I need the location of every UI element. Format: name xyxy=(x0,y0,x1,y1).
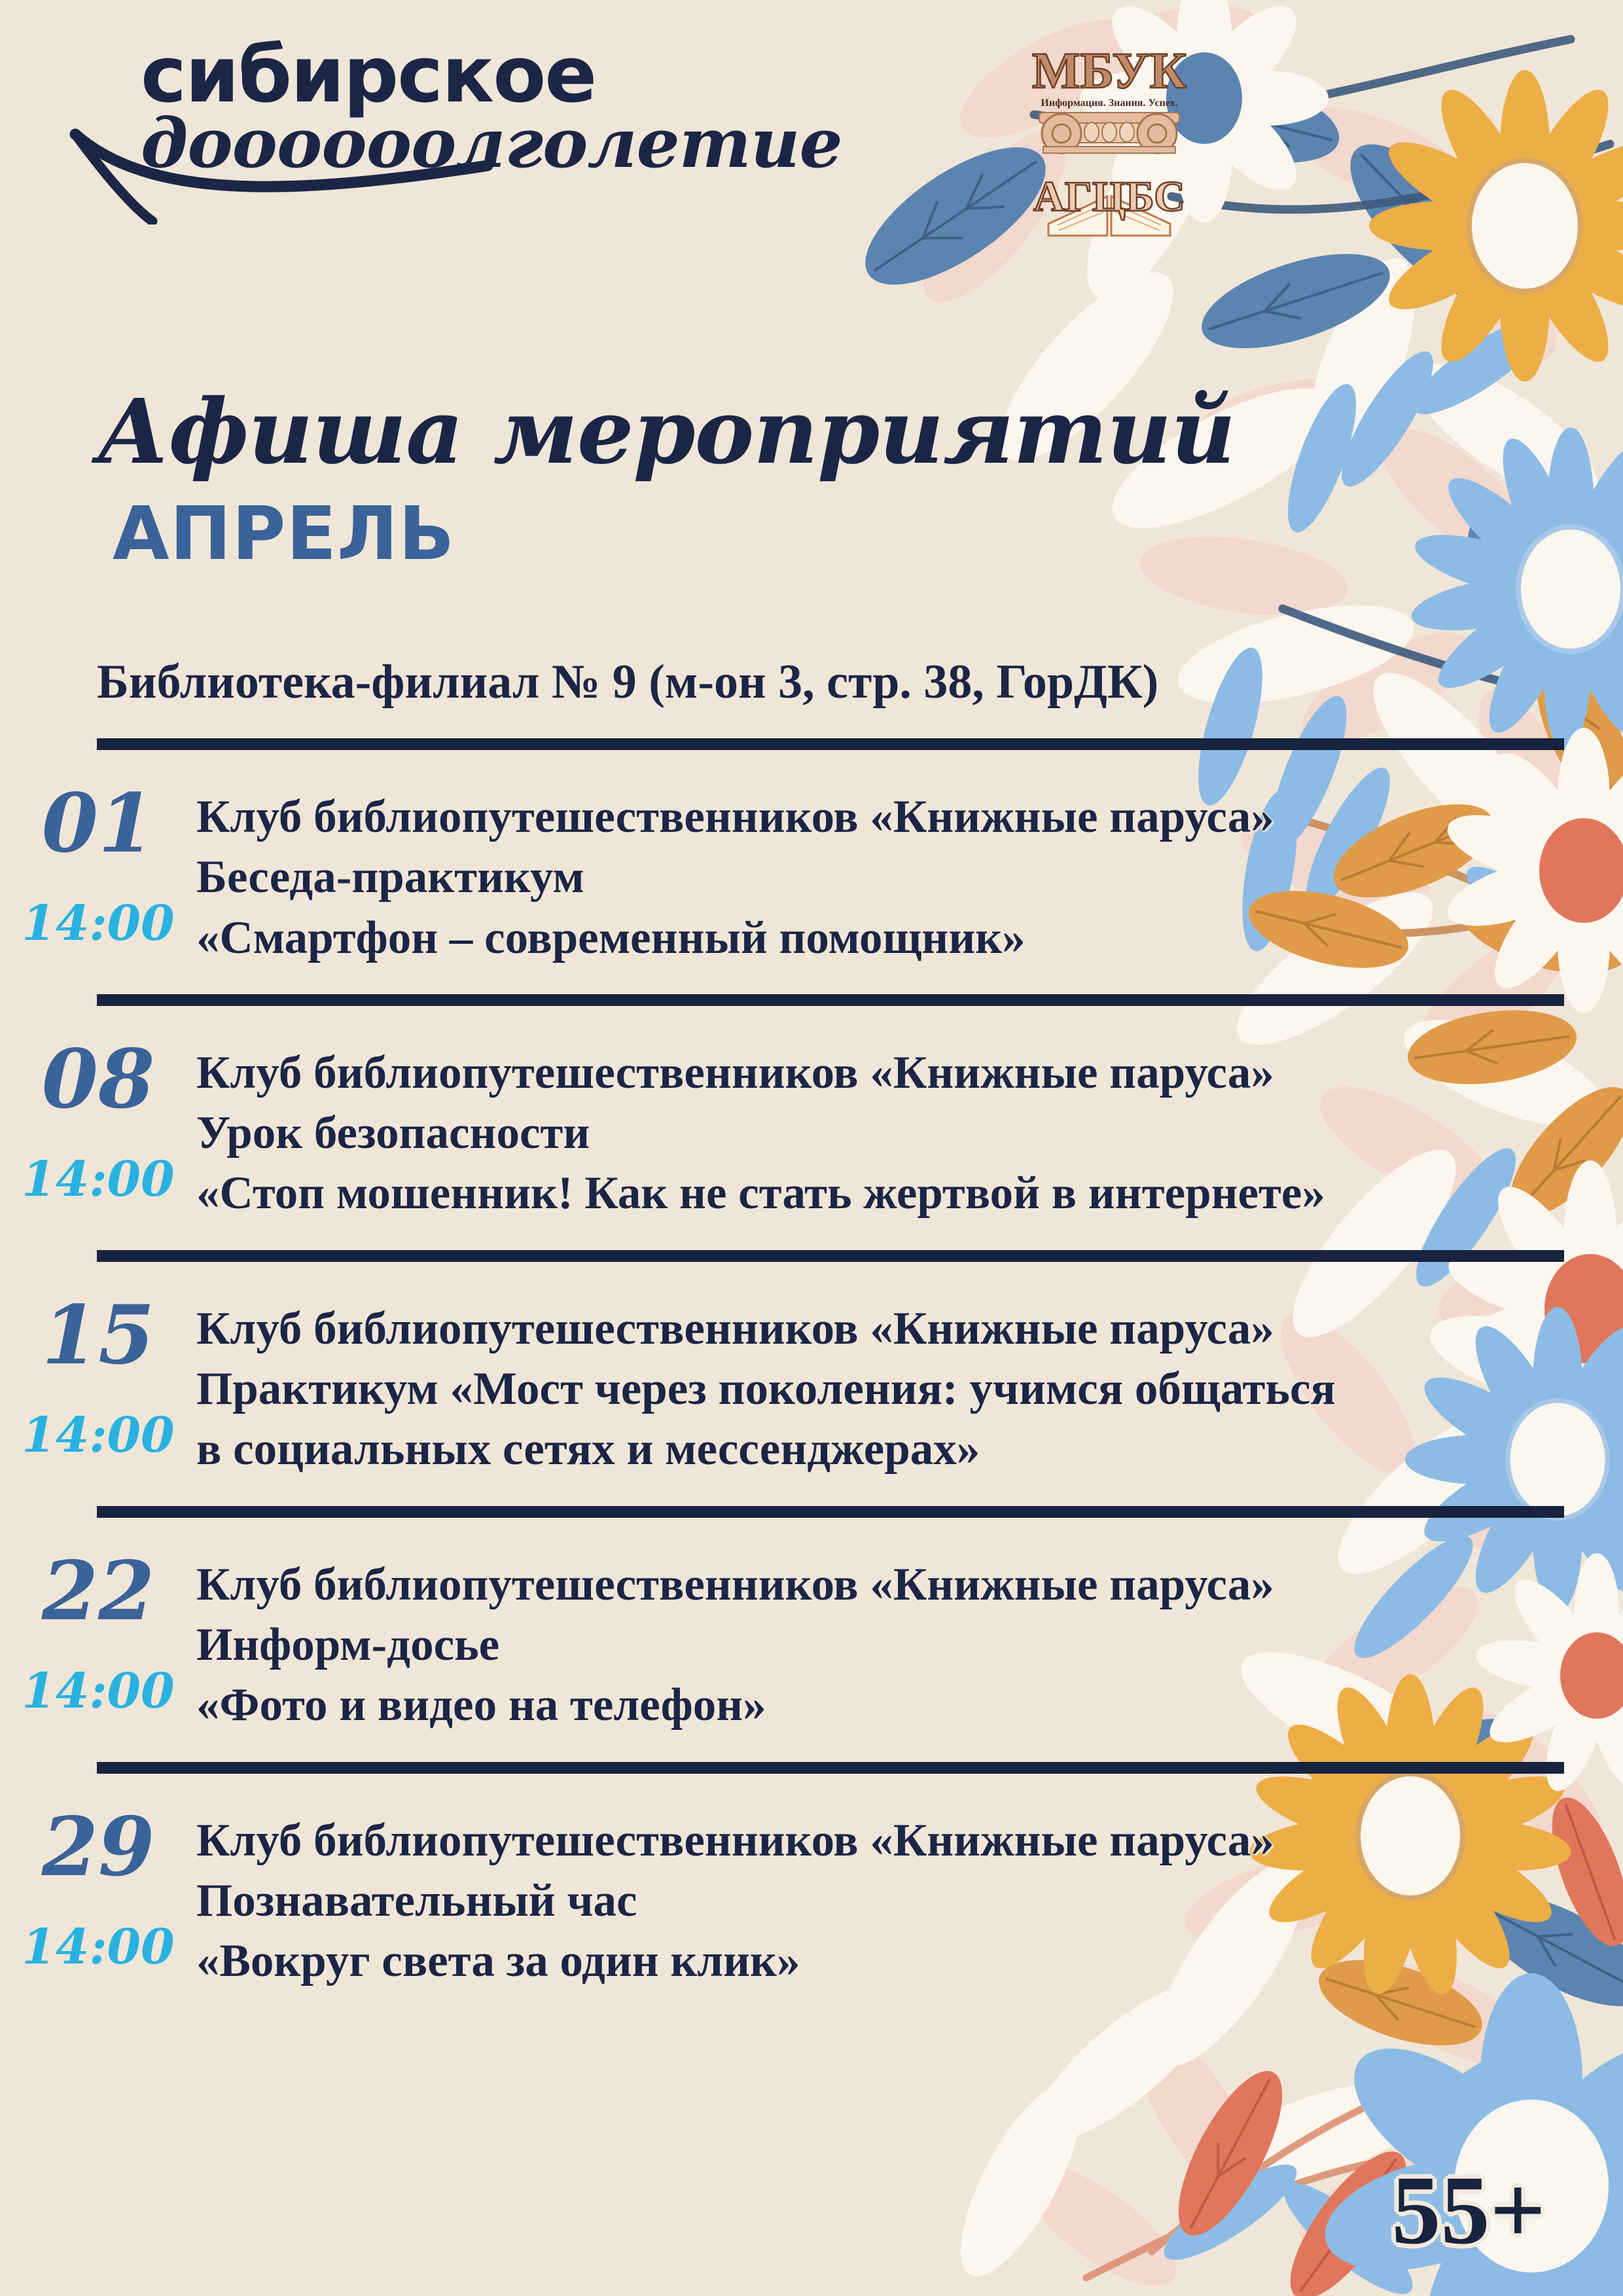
event-when: 01 14:00 xyxy=(0,780,196,948)
event-time: 14:00 xyxy=(0,1923,196,1971)
ionic-column-icon xyxy=(1039,113,1179,153)
age-rating-badge: 55+ xyxy=(1392,2161,1546,2259)
event-line: Беседа-практикум xyxy=(196,847,1584,907)
event-row: 29 14:00 Клуб библиопутешественников «Кн… xyxy=(0,1774,1623,2018)
event-day: 29 xyxy=(0,1806,196,1889)
logo-swoosh-icon xyxy=(69,120,658,224)
event-line: Клуб библиопутешественников «Книжные пар… xyxy=(196,787,1584,847)
event-row: 15 14:00 Клуб библиопутешественников «Кн… xyxy=(0,1262,1623,1506)
page-title: Афиша мероприятий xyxy=(97,387,1235,476)
logo-line-1: сибирское xyxy=(141,36,874,113)
branch-name: Библиотека-филиал № 9 (м-он 3, стр. 38, … xyxy=(97,655,1158,710)
event-when: 29 14:00 xyxy=(0,1804,196,1971)
event-line: Клуб библиопутешественников «Книжные пар… xyxy=(196,1043,1584,1103)
event-line: «Смартфон – современный помощник» xyxy=(196,908,1584,968)
library-emblem: МБУК Информация. Знания. Успех. xyxy=(1021,27,1198,243)
program-logo: сибирское доооооолголетие xyxy=(141,36,874,177)
event-description: Клуб библиопутешественников «Книжные пар… xyxy=(196,1036,1623,1224)
divider xyxy=(97,1250,1564,1262)
event-row: 22 14:00 Клуб библиопутешественников «Кн… xyxy=(0,1518,1623,1762)
event-description: Клуб библиопутешественников «Книжные пар… xyxy=(196,1548,1623,1736)
divider xyxy=(97,1762,1564,1774)
event-time: 14:00 xyxy=(0,1155,196,1204)
event-line: «Фото и видео на телефон» xyxy=(196,1675,1584,1735)
event-line: Познавательный час xyxy=(196,1871,1584,1931)
event-day: 22 xyxy=(0,1551,196,1633)
month-title: АПРЕЛЬ xyxy=(113,497,455,571)
event-line: Информ-досье xyxy=(196,1615,1584,1675)
event-when: 15 14:00 xyxy=(0,1292,196,1460)
event-time: 14:00 xyxy=(0,1667,196,1715)
event-day: 15 xyxy=(0,1295,196,1377)
event-line: Урок безопасности xyxy=(196,1103,1584,1163)
event-when: 08 14:00 xyxy=(0,1036,196,1204)
event-line: Клуб библиопутешественников «Книжные пар… xyxy=(196,1299,1584,1359)
event-line: в социальных сетях и мессенджерах» xyxy=(196,1419,1584,1479)
event-description: Клуб библиопутешественников «Книжные пар… xyxy=(196,780,1623,968)
divider xyxy=(97,1506,1564,1518)
divider xyxy=(97,994,1564,1006)
event-line: Клуб библиопутешественников «Книжные пар… xyxy=(196,1810,1584,1871)
event-poster: сибирское доооооолголетие МБУК Информаци… xyxy=(0,0,1623,2296)
event-time: 14:00 xyxy=(0,1411,196,1460)
emblem-tagline: Информация. Знания. Успех. xyxy=(1041,98,1177,109)
emblem-bottom-text: АГЦБС xyxy=(1033,173,1185,221)
event-time: 14:00 xyxy=(0,899,196,948)
event-line: Клуб библиопутешественников «Книжные пар… xyxy=(196,1554,1584,1615)
event-row: 01 14:00 Клуб библиопутешественников «Кн… xyxy=(0,750,1623,994)
event-line: «Стоп мошенник! Как не стать жертвой в и… xyxy=(196,1163,1584,1223)
event-line: Практикум «Мост через поколения: учимся … xyxy=(196,1359,1584,1419)
emblem-top-text: МБУК xyxy=(1032,42,1186,99)
event-row: 08 14:00 Клуб библиопутешественников «Кн… xyxy=(0,1006,1623,1250)
event-description: Клуб библиопутешественников «Книжные пар… xyxy=(196,1292,1623,1480)
events-schedule: 01 14:00 Клуб библиопутешественников «Кн… xyxy=(0,738,1623,2017)
event-description: Клуб библиопутешественников «Книжные пар… xyxy=(196,1804,1623,1992)
event-day: 01 xyxy=(0,783,196,865)
event-day: 08 xyxy=(0,1039,196,1121)
divider xyxy=(97,738,1564,750)
event-when: 22 14:00 xyxy=(0,1548,196,1715)
event-line: «Вокруг света за один клик» xyxy=(196,1931,1584,1991)
